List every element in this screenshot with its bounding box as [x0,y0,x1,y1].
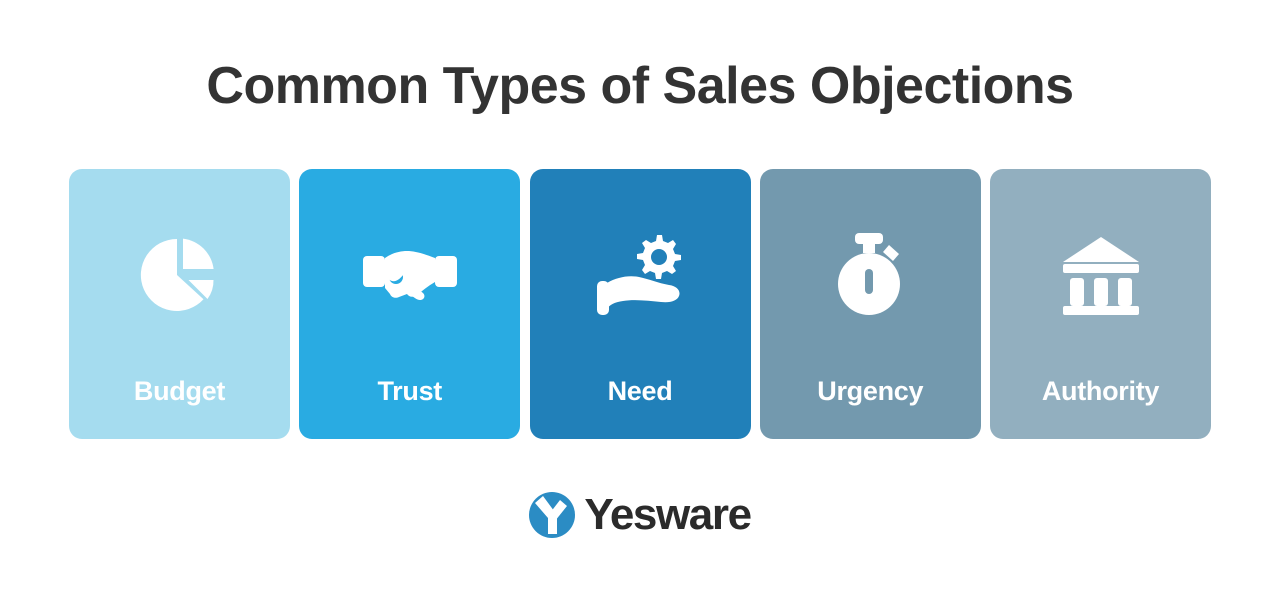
objection-card-need[interactable]: Need [530,169,751,439]
stopwatch-icon [820,229,920,321]
yesware-brand[interactable]: Yesware [0,492,1280,538]
objection-card-label: Urgency [817,376,923,406]
objection-cards-row: Budget Trust [69,169,1211,439]
yesware-wordmark: Yesware [584,492,750,538]
pie-chart-icon [130,229,230,321]
objection-card-label: Trust [377,376,442,406]
card-label-wrap: Budget [69,376,290,407]
objection-card-trust[interactable]: Trust [299,169,520,439]
card-label-wrap: Authority [990,376,1211,407]
hand-holding-gear-icon [590,229,690,321]
yesware-logo-icon [529,492,575,538]
objection-card-label: Authority [1042,376,1159,406]
infographic-canvas: Common Types of Sales Objections Budget [0,0,1280,602]
card-label-wrap: Urgency [760,376,981,407]
handshake-icon [360,229,460,321]
card-label-wrap: Trust [299,376,520,407]
objection-card-budget[interactable]: Budget [69,169,290,439]
objection-card-authority[interactable]: Authority [990,169,1211,439]
page-title: Common Types of Sales Objections [0,55,1280,117]
objection-card-label: Need [608,376,673,406]
objection-card-label: Budget [134,376,225,406]
bank-building-icon [1051,229,1151,321]
objection-card-urgency[interactable]: Urgency [760,169,981,439]
card-label-wrap: Need [530,376,751,407]
